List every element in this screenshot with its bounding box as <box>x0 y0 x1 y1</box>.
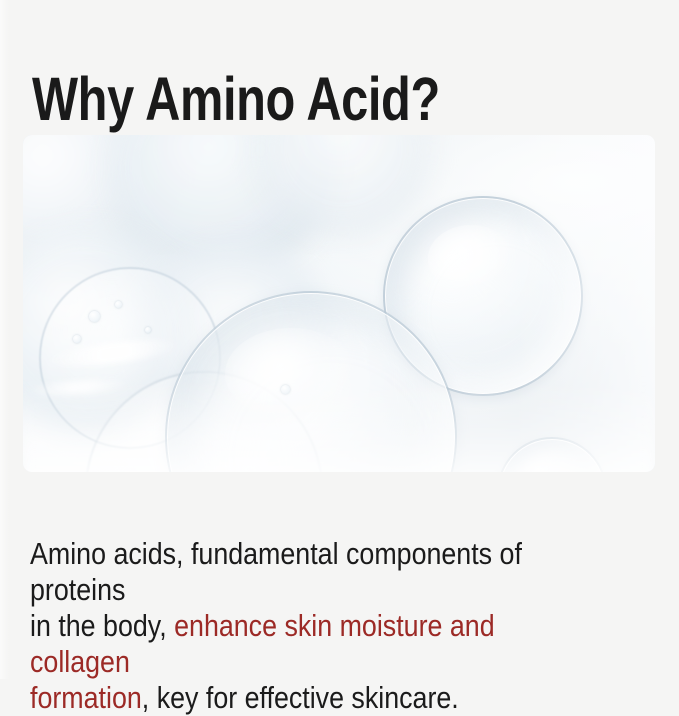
droplet-3 <box>115 301 122 308</box>
droplet-1 <box>89 311 100 322</box>
bubbles-image <box>23 135 655 472</box>
body-paragraph: Amino acids, fundamental components of p… <box>30 536 584 716</box>
droplet-4 <box>145 327 151 333</box>
page-title: Why Amino Acid? <box>32 63 440 135</box>
body-text-tail: , key for effective skincare. <box>142 680 459 715</box>
left-edge-band <box>0 0 9 679</box>
bottom-haze <box>23 378 655 472</box>
hero-image <box>23 135 655 472</box>
droplet-2 <box>73 335 81 343</box>
infographic-page: Why Amino Acid? <box>0 0 679 679</box>
